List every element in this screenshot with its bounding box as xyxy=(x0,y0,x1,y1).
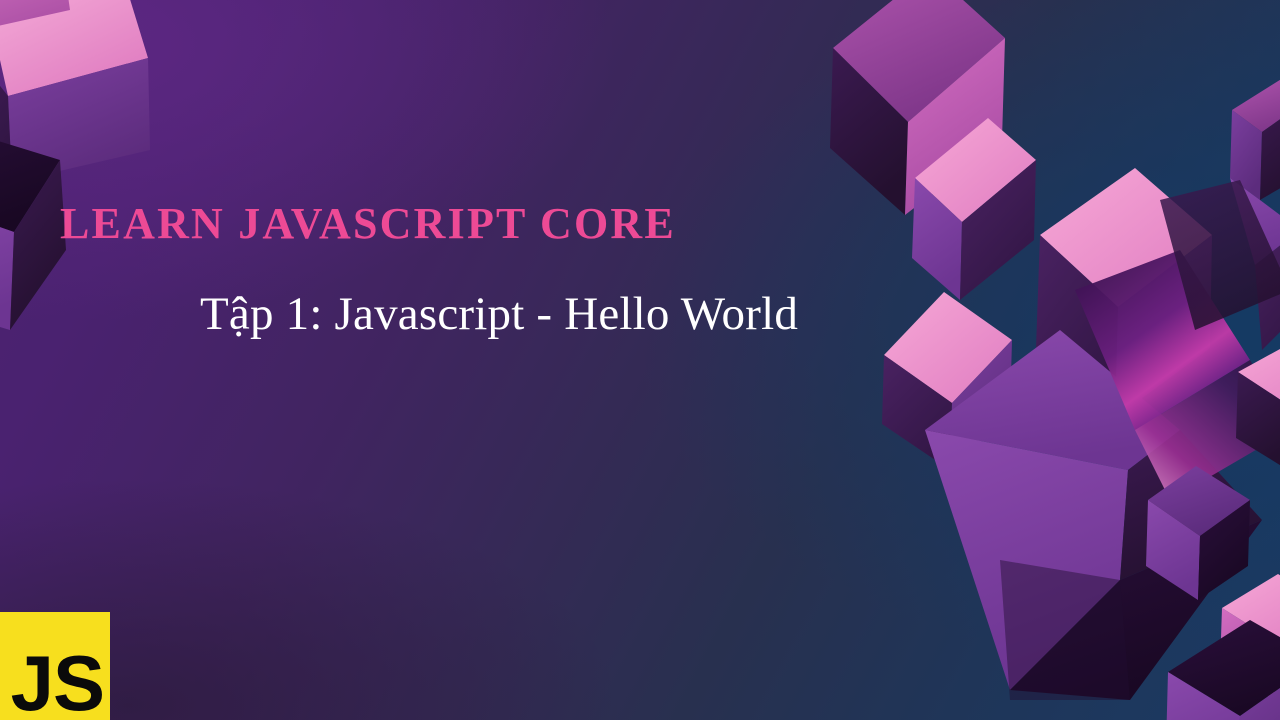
page-subtitle: Tập 1: Javascript - Hello World xyxy=(200,288,798,341)
javascript-logo-label: JS xyxy=(11,644,104,720)
floating-cubes-artwork xyxy=(0,0,1280,720)
slide-canvas: Learn Javascript Core Tập 1: Javascript … xyxy=(0,0,1280,720)
page-title: Learn Javascript Core xyxy=(60,202,676,246)
javascript-logo: JS xyxy=(0,612,110,720)
